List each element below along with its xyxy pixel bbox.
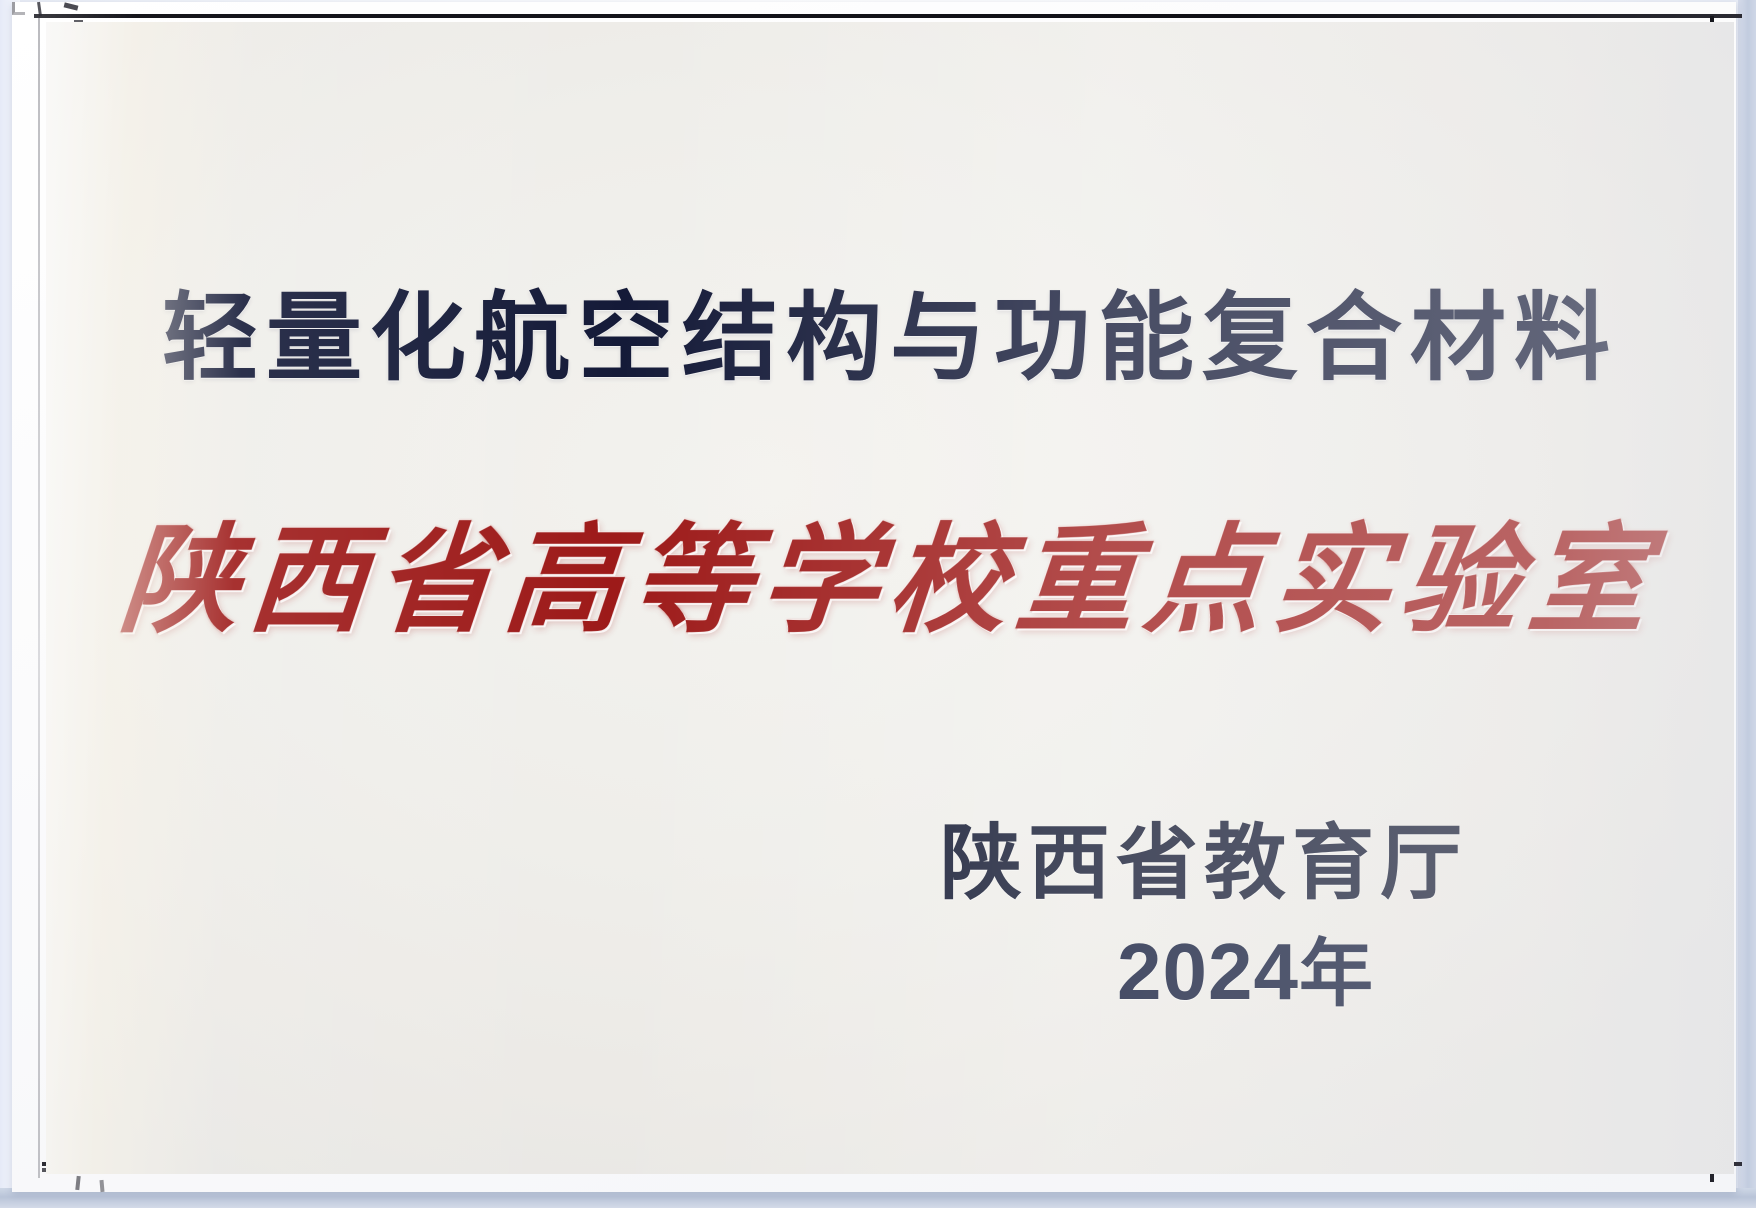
board-frame: 轻量化航空结构与功能复合材料 陕西省高等学校重点实验室 陕西省教育厅 2024年 xyxy=(12,2,1736,1192)
year-line: 2024年 xyxy=(1117,932,1374,1012)
frame-rule-top xyxy=(34,14,1742,18)
slide-board: 轻量化航空结构与功能复合材料 陕西省高等学校重点实验室 陕西省教育厅 2024年 xyxy=(46,22,1734,1174)
frame-corner-tick-bottom-left-c xyxy=(99,1180,104,1192)
frame-rule-left xyxy=(38,18,40,1178)
frame-corner-tick-top-right xyxy=(12,2,25,15)
photo-scene: 轻量化航空结构与功能复合材料 陕西省高等学校重点实验室 陕西省教育厅 2024年 xyxy=(0,0,1756,1208)
frame-corner-tick-top-left-a xyxy=(37,2,42,16)
frame-corner-tick-top-left-b xyxy=(64,2,79,10)
wall-right-edge xyxy=(1738,0,1756,1208)
lab-banner-container: 陕西省高等学校重点实验室 xyxy=(46,484,1734,655)
slide-title: 轻量化航空结构与功能复合材料 xyxy=(46,290,1734,386)
lab-banner-text: 陕西省高等学校重点实验室 xyxy=(115,484,1666,655)
year-suffix: 年 xyxy=(1299,931,1374,1017)
organization-name: 陕西省教育厅 xyxy=(940,822,1468,904)
frame-corner-tick-bottom-left-b xyxy=(75,1176,80,1190)
year-number: 2024 xyxy=(1117,927,1299,1016)
